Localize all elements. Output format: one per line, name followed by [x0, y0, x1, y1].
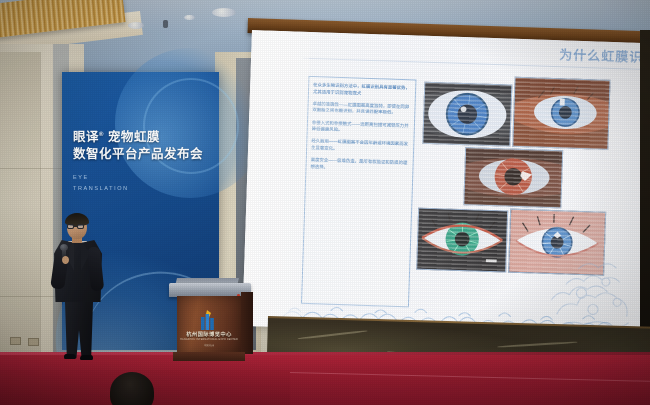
banner-brand-name: 眼译	[73, 130, 99, 144]
wall-socket[interactable]	[28, 338, 39, 346]
slide-paragraph: 经久耐用——虹膜图案不会因年龄或环境因素而发生显著变化。	[311, 138, 409, 155]
eye-image-icon	[464, 148, 562, 207]
banner-title-line2: 数智化平台产品发布会	[73, 146, 213, 163]
banner-title-line1: 眼译® 宠物虹膜	[73, 130, 213, 146]
banner-subtitle-line1: EYE	[73, 173, 213, 185]
slide-text-box: 在众多生物识别方法中，虹膜识别具有显著优势，尤其适用于识别宠物宠犬 卓越的准确性…	[301, 76, 417, 307]
presentation-photo-scene: 眼译® 宠物虹膜 数智化平台产品发布会 EYE TRANSLATION 为什么虹…	[0, 0, 650, 405]
right-dark-wall	[640, 30, 650, 330]
podium-base	[173, 352, 245, 361]
cloud-dragon-pattern-decoration	[546, 244, 645, 333]
slide-title: 为什么虹膜识	[559, 44, 644, 66]
ceiling-sensor-icon	[163, 20, 168, 28]
expo-center-logo-icon	[196, 310, 222, 330]
marble-vein	[298, 330, 368, 340]
eye-photo-red-iris	[463, 147, 563, 208]
speaker-shoe	[64, 354, 76, 359]
podium-venue-subtitle-en: HANGZHOU INTERNATIONAL EXPO CENTER	[177, 338, 241, 341]
eye-photo-blue-macro	[422, 82, 512, 147]
banner-title-line1-rest: 宠物虹膜	[108, 130, 160, 144]
banner-subtitle-line2: TRANSLATION	[73, 184, 213, 196]
slide-paragraph-text: 卓越的准确性——虹膜图案高度独特，即使在同卵双胞胎之间也能识别，并且误匹配率极低…	[312, 101, 410, 118]
speaker-glasses-bridge	[74, 226, 77, 227]
projection-screen: 为什么虹膜识 在众多生物识别方法中，虹膜识别具有显著优势，尤其适用于识别宠物宠犬…	[242, 30, 650, 339]
podium-venue-name: 杭州国际博览中心	[177, 330, 241, 338]
banner-title-block: 眼译® 宠物虹膜 数智化平台产品发布会 EYE TRANSLATION	[73, 130, 213, 196]
eye-image-icon	[513, 78, 609, 149]
ceiling-light-icon	[128, 22, 144, 29]
eye-photo-green-iris	[416, 208, 508, 273]
slide-paragraph: 在众多生物识别方法中，虹膜识别具有显著优势，尤其适用于识别宠物宠犬	[313, 82, 411, 99]
presentation-slide: 为什么虹膜识 在众多生物识别方法中，虹膜识别具有显著优势，尤其适用于识别宠物宠犬…	[242, 30, 650, 339]
slide-paragraph-text: 非侵入式和非接触式——远距离扫描可减轻压力并降低健康风险。	[312, 120, 410, 137]
speaker-shoe	[80, 355, 93, 360]
left-stone-wall-panel	[0, 52, 40, 357]
expo-center-logo	[177, 310, 241, 330]
ceiling-light-icon	[184, 15, 195, 20]
ceiling-light-icon	[212, 8, 236, 17]
speaker-hand	[62, 256, 69, 264]
audience-member-head	[110, 372, 154, 405]
speaker-glasses	[67, 224, 74, 229]
podium: 杭州国际博览中心 HANGZHOU INTERNATIONAL EXPO CEN…	[177, 296, 241, 354]
eye-photo-brown-lashes	[512, 77, 610, 150]
slide-paragraph: 非侵入式和非接触式——远距离扫描可减轻压力并降低健康风险。	[312, 120, 410, 137]
eye-image-icon	[423, 83, 511, 146]
slide-paragraph: 高度安全——极难伪造，是所有权验证和防损的理想选择。	[310, 157, 408, 174]
wall-socket[interactable]	[10, 337, 21, 345]
wall-seam	[40, 52, 41, 357]
slide-paragraph-text: 高度安全——极难伪造，是所有权验证和防损的理想选择。	[310, 157, 408, 174]
slide-paragraph-text: 在众多生物识别方法中，虹膜识别具有显著优势，尤其适用于识别宠物宠犬	[313, 82, 411, 99]
registered-mark-icon: ®	[99, 132, 104, 138]
podium-venue-subtitle-cn: 中国·杭州	[177, 343, 241, 347]
marble-vein	[497, 341, 577, 348]
slide-paragraph: 卓越的准确性——虹膜图案高度独特，即使在同卵双胞胎之间也能识别，并且误匹配率极低…	[312, 101, 410, 118]
speaker-person	[46, 215, 114, 360]
speaker-glasses	[77, 224, 84, 229]
slide-paragraph-text: 经久耐用——虹膜图案不会因年龄或环境因素而发生显著变化。	[311, 138, 409, 155]
speaker-legs	[63, 300, 95, 358]
microphone-head-icon	[60, 244, 68, 251]
podium-side-panel	[241, 292, 253, 354]
eye-image-icon	[417, 209, 507, 272]
banner-subtitle: EYE TRANSLATION	[73, 173, 213, 196]
